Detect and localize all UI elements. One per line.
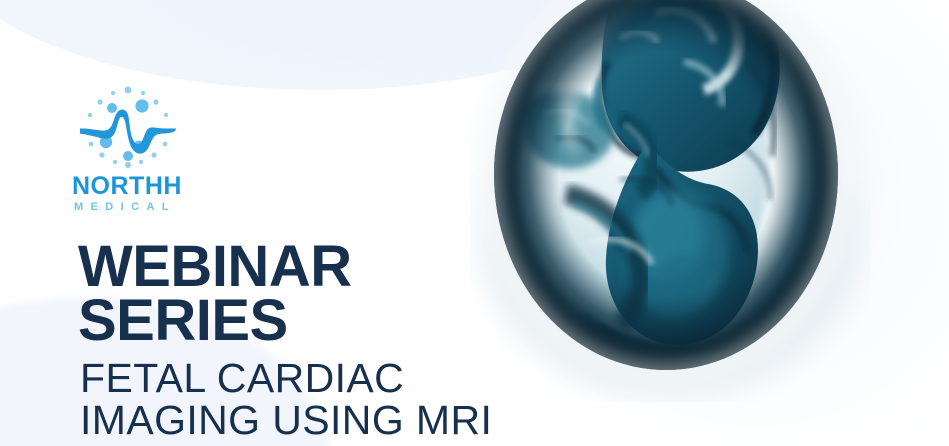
northh-medical-logo: NORTHH MEDICAL	[72, 84, 272, 214]
subheadline-line-2: IMAGING USING MRI	[80, 400, 492, 442]
webinar-banner: NORTHH MEDICAL WEBINAR SERIES FETAL CARD…	[0, 0, 949, 446]
logo-wordmark: NORTHH	[72, 174, 182, 199]
page-title: WEBINAR SERIES	[78, 240, 352, 348]
page-subtitle: FETAL CARDIAC IMAGING USING MRI	[80, 358, 492, 442]
subheadline-line-1: FETAL CARDIAC	[80, 358, 492, 400]
headline-line-2: SERIES	[78, 294, 352, 348]
mri-scan-graphic	[470, 0, 870, 402]
headline-line-1: WEBINAR	[78, 240, 352, 294]
logo-subword: MEDICAL	[74, 202, 176, 213]
pulse-waveform-dots-icon	[76, 84, 180, 170]
fetal-mri-scan-image	[470, 0, 870, 402]
